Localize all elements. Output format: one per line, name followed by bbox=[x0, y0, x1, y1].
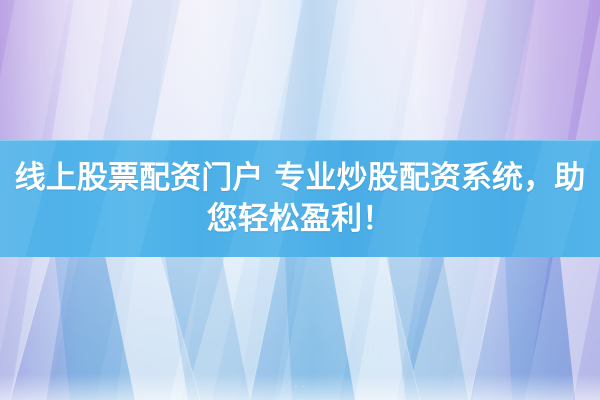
watermark-text: · · bbox=[294, 381, 306, 392]
chevron-svg bbox=[0, 256, 600, 400]
lower-chevron-pattern bbox=[0, 256, 600, 400]
headline-container: 线上股票配资门户 专业炒股配资系统，助您轻松盈利！ bbox=[0, 140, 600, 257]
promo-banner: 线上股票配资门户 专业炒股配资系统，助您轻松盈利！ · · bbox=[0, 0, 600, 400]
headline-text: 线上股票配资门户 专业炒股配资系统，助您轻松盈利！ bbox=[0, 158, 600, 240]
